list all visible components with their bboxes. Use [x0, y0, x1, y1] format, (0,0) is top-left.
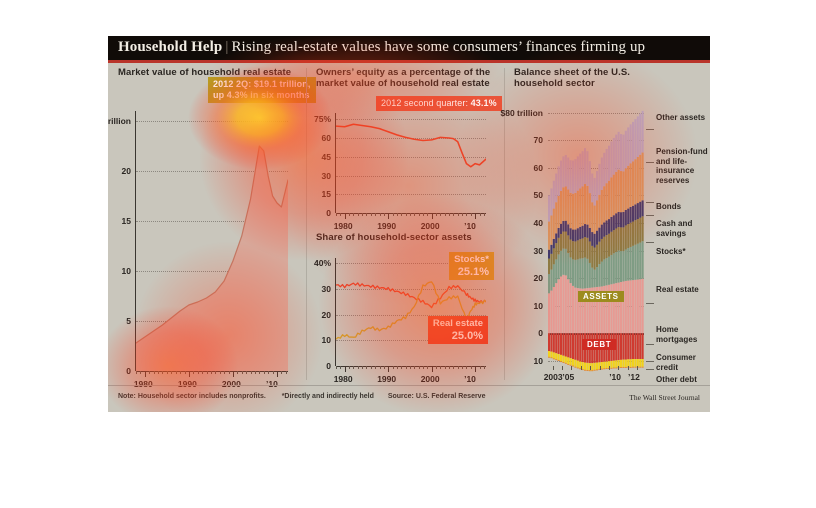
x-tick — [215, 371, 216, 374]
x-tick — [471, 213, 472, 216]
x-tick — [268, 371, 269, 374]
series-label: Pension-fund and life-insurance reserves — [656, 147, 710, 185]
x-tick — [406, 366, 407, 369]
y-axis-label: $25 trillion — [108, 116, 131, 126]
x-tick — [149, 371, 150, 374]
x-tick — [466, 213, 467, 216]
x-tick — [176, 371, 177, 374]
y-axis-label: 50 — [534, 190, 543, 200]
x-tick — [362, 213, 363, 216]
x-tick — [371, 366, 372, 369]
x-tick — [590, 366, 591, 370]
footer-footnote: *Directly and indirectly held — [282, 393, 374, 400]
x-tick — [255, 371, 256, 374]
x-tick — [393, 366, 394, 369]
x-tick — [237, 371, 238, 374]
x-tick — [410, 213, 411, 216]
series-label: Real estate — [656, 285, 710, 295]
x-tick — [180, 371, 181, 374]
x-axis-label: ’10 — [464, 221, 476, 231]
footer-notes: Note: Household sector includes nonprofi… — [118, 393, 485, 400]
x-tick — [445, 213, 446, 216]
callout-owners-equity: 2012 second quarter: 43.1% — [376, 96, 502, 111]
x-tick — [414, 366, 415, 369]
x-tick — [145, 371, 146, 377]
x-tick — [136, 371, 137, 374]
x-tick — [436, 213, 437, 216]
x-tick — [609, 366, 610, 370]
y-axis-label: 20 — [534, 273, 543, 283]
x-axis-label: 1980 — [334, 374, 353, 384]
leader-line — [646, 361, 654, 362]
x-tick — [384, 366, 385, 369]
x-tick — [628, 366, 629, 370]
x-tick — [393, 213, 394, 216]
x-tick — [158, 371, 159, 374]
y-axis-label: 75% — [314, 114, 331, 124]
x-tick — [380, 213, 381, 216]
x-tick — [340, 366, 341, 369]
x-tick — [375, 213, 376, 216]
x-tick — [458, 366, 459, 369]
y-axis-label: 10 — [534, 356, 543, 366]
x-tick — [600, 366, 601, 370]
y-axis-label: 10 — [322, 335, 331, 345]
x-tick — [419, 366, 420, 369]
x-axis-label: 1980 — [334, 221, 353, 231]
x-tick — [171, 371, 172, 374]
leader-line — [646, 162, 654, 163]
callout-label: 2012 second quarter: — [381, 98, 471, 108]
x-tick — [466, 366, 467, 369]
series-label: Other assets — [656, 113, 710, 123]
x-tick — [380, 366, 381, 369]
x-tick — [384, 213, 385, 216]
panel-balance-sheet: Balance sheet of the U.S. household sect… — [504, 63, 710, 385]
infographic: Household Help|Rising real-estate values… — [108, 36, 710, 412]
y-axis-label: 0 — [126, 366, 131, 376]
x-tick — [246, 371, 247, 374]
x-tick — [471, 366, 472, 369]
x-tick — [419, 213, 420, 216]
series-label: Stocks* — [656, 247, 710, 257]
leader-line — [646, 215, 654, 216]
x-tick — [401, 213, 402, 216]
x-tick — [349, 366, 350, 369]
x-tick — [553, 366, 554, 370]
series-label-stocks: Stocks*25.1% — [449, 252, 494, 280]
leader-line — [646, 369, 654, 370]
x-tick — [458, 213, 459, 216]
x-tick — [366, 366, 367, 369]
x-tick — [233, 371, 234, 377]
x-tick — [167, 371, 168, 374]
series-label: Home mortgages — [656, 325, 710, 344]
x-tick — [345, 366, 346, 372]
leader-line — [646, 242, 654, 243]
chart-balance-sheet: $80 trillion706050403020100102003’05’10’… — [548, 107, 644, 372]
x-tick — [462, 213, 463, 216]
callout-value: 43.1% — [471, 98, 497, 108]
y-axis-label: 20 — [322, 310, 331, 320]
x-axis-label: 2003 — [544, 372, 563, 382]
series-label: Other debt — [656, 375, 710, 385]
x-tick — [162, 371, 163, 374]
balance-sheet-bars — [548, 107, 644, 372]
y-axis-label: 15 — [122, 216, 131, 226]
x-tick — [449, 366, 450, 369]
series-label-stocks-value: 25.1% — [454, 266, 489, 278]
x-tick — [336, 213, 337, 216]
x-tick — [388, 366, 389, 372]
series-label: Cash and savings — [656, 219, 710, 238]
x-tick — [353, 213, 354, 216]
x-axis-label: ’12 — [628, 372, 640, 382]
x-tick — [423, 366, 424, 369]
x-tick — [480, 213, 481, 216]
chart-title-share-assets: Share of household-sector assets — [316, 232, 496, 243]
x-tick — [207, 371, 208, 374]
title-lead: Household Help — [118, 39, 222, 55]
x-tick — [220, 371, 221, 374]
x-axis-label: 2000 — [421, 221, 440, 231]
x-axis-label: ’10 — [464, 374, 476, 384]
y-axis-label: 20 — [122, 166, 131, 176]
x-tick — [264, 371, 265, 374]
x-tick — [440, 366, 441, 369]
x-tick — [286, 371, 287, 374]
y-axis-label: 10 — [534, 301, 543, 311]
x-tick — [349, 213, 350, 216]
x-tick — [340, 213, 341, 216]
x-tick — [449, 213, 450, 216]
x-tick — [480, 366, 481, 369]
x-tick — [242, 371, 243, 374]
x-axis-label: ’05 — [562, 372, 574, 382]
y-axis-label: 30 — [322, 284, 331, 294]
chart-title-balance-sheet: Balance sheet of the U.S. household sect… — [514, 67, 634, 89]
leader-line — [646, 303, 654, 304]
x-tick — [277, 371, 278, 377]
leader-line — [646, 202, 654, 203]
series-label-real-estate-name: Real estate — [433, 318, 483, 330]
x-tick — [484, 366, 485, 369]
x-tick — [581, 366, 582, 370]
x-tick — [193, 371, 194, 374]
x-axis-label: 1990 — [377, 374, 396, 384]
y-axis-label: 60 — [534, 163, 543, 173]
footer-publication: The Wall Street Journal — [629, 393, 700, 402]
series-label-real-estate: Real estate25.0% — [428, 316, 488, 344]
series-label-real-estate-value: 25.0% — [433, 330, 483, 342]
x-axis-label: 2000 — [421, 374, 440, 384]
x-tick — [388, 213, 389, 219]
x-tick — [427, 213, 428, 216]
x-tick — [410, 366, 411, 369]
callout-market-value: 2012 2Q: $19.1 trillion, up 4.3% in six … — [208, 77, 316, 103]
x-tick — [336, 366, 337, 369]
y-axis-label: $80 trillion — [500, 108, 543, 118]
y-axis-label: 30 — [534, 246, 543, 256]
page-title: Household Help|Rising real-estate values… — [118, 39, 645, 56]
market-value-area — [136, 111, 288, 371]
y-axis-label: 60 — [322, 133, 331, 143]
assets-badge: ASSETS — [578, 291, 624, 302]
y-axis-label: 10 — [122, 266, 131, 276]
y-axis-label: 70 — [534, 135, 543, 145]
leader-line — [646, 344, 654, 345]
series-label: Bonds — [656, 202, 710, 212]
x-tick — [475, 366, 476, 372]
x-tick — [637, 366, 638, 370]
x-tick — [397, 366, 398, 369]
x-tick — [358, 213, 359, 216]
x-tick — [406, 213, 407, 216]
x-tick — [618, 366, 619, 370]
y-axis-label: 40% — [314, 258, 331, 268]
x-tick — [273, 371, 274, 374]
x-tick — [229, 371, 230, 374]
title-subtitle: Rising real-estate values have some cons… — [231, 39, 645, 55]
title-bar: Household Help|Rising real-estate values… — [108, 36, 710, 60]
x-tick — [440, 213, 441, 216]
x-tick — [432, 213, 433, 219]
chart-owners-equity: 01530456075%198019902000’102012 second q… — [336, 113, 486, 213]
x-axis-label: 1990 — [377, 221, 396, 231]
x-tick — [462, 366, 463, 369]
y-axis-label: 0 — [326, 208, 331, 218]
x-tick — [453, 213, 454, 216]
x-tick — [358, 366, 359, 369]
x-tick — [154, 371, 155, 374]
x-axis-label: ’10 — [609, 372, 621, 382]
x-tick — [475, 213, 476, 219]
debt-badge: DEBT — [582, 339, 616, 350]
x-tick — [281, 371, 282, 374]
x-tick — [453, 366, 454, 369]
x-tick — [185, 371, 186, 374]
panel-middle: Owners’ equity as a percentage of the ma… — [306, 63, 504, 385]
x-tick — [414, 213, 415, 216]
x-tick — [189, 371, 190, 377]
footer-note: Note: Household sector includes nonprofi… — [118, 393, 266, 400]
x-tick — [423, 213, 424, 216]
x-tick — [484, 213, 485, 216]
y-axis-label: 40 — [534, 218, 543, 228]
leader-line — [646, 129, 654, 130]
y-axis-label: 15 — [322, 189, 331, 199]
y-axis-label: 45 — [322, 152, 331, 162]
x-tick — [366, 213, 367, 216]
x-tick — [362, 366, 363, 369]
chart-share-of-assets: 010203040%198019902000’10Stocks*25.1%Rea… — [336, 258, 486, 366]
x-tick — [375, 366, 376, 369]
x-tick — [432, 366, 433, 372]
y-axis-label: 30 — [322, 171, 331, 181]
x-tick — [259, 371, 260, 374]
y-axis-label: 0 — [538, 328, 543, 338]
x-tick — [211, 371, 212, 374]
footer: Note: Household sector includes nonprofi… — [108, 385, 710, 412]
series-label-stocks-name: Stocks* — [454, 254, 489, 266]
panel-market-value: Market value of household real estate 05… — [108, 63, 306, 385]
x-tick — [401, 366, 402, 369]
y-axis-label: 5 — [126, 316, 131, 326]
x-tick — [436, 366, 437, 369]
x-tick — [224, 371, 225, 374]
x-tick — [427, 366, 428, 369]
x-tick — [140, 371, 141, 374]
x-tick — [251, 371, 252, 374]
x-tick — [353, 366, 354, 369]
x-tick — [445, 366, 446, 369]
footer-source: Source: U.S. Federal Reserve — [388, 393, 486, 400]
x-tick — [371, 213, 372, 216]
x-tick — [397, 213, 398, 216]
x-tick — [345, 213, 346, 219]
x-tick — [202, 371, 203, 374]
x-tick — [562, 366, 563, 370]
series-label: Consumer credit — [656, 353, 710, 372]
owners-equity-line — [336, 113, 486, 213]
x-tick — [571, 366, 572, 370]
y-axis-label: 0 — [326, 361, 331, 371]
chart-title-owners-equity: Owners’ equity as a percentage of the ma… — [316, 67, 496, 89]
x-tick — [198, 371, 199, 374]
chart-market-value: 05101520$25 trillion198019902000’102012 … — [136, 111, 288, 371]
